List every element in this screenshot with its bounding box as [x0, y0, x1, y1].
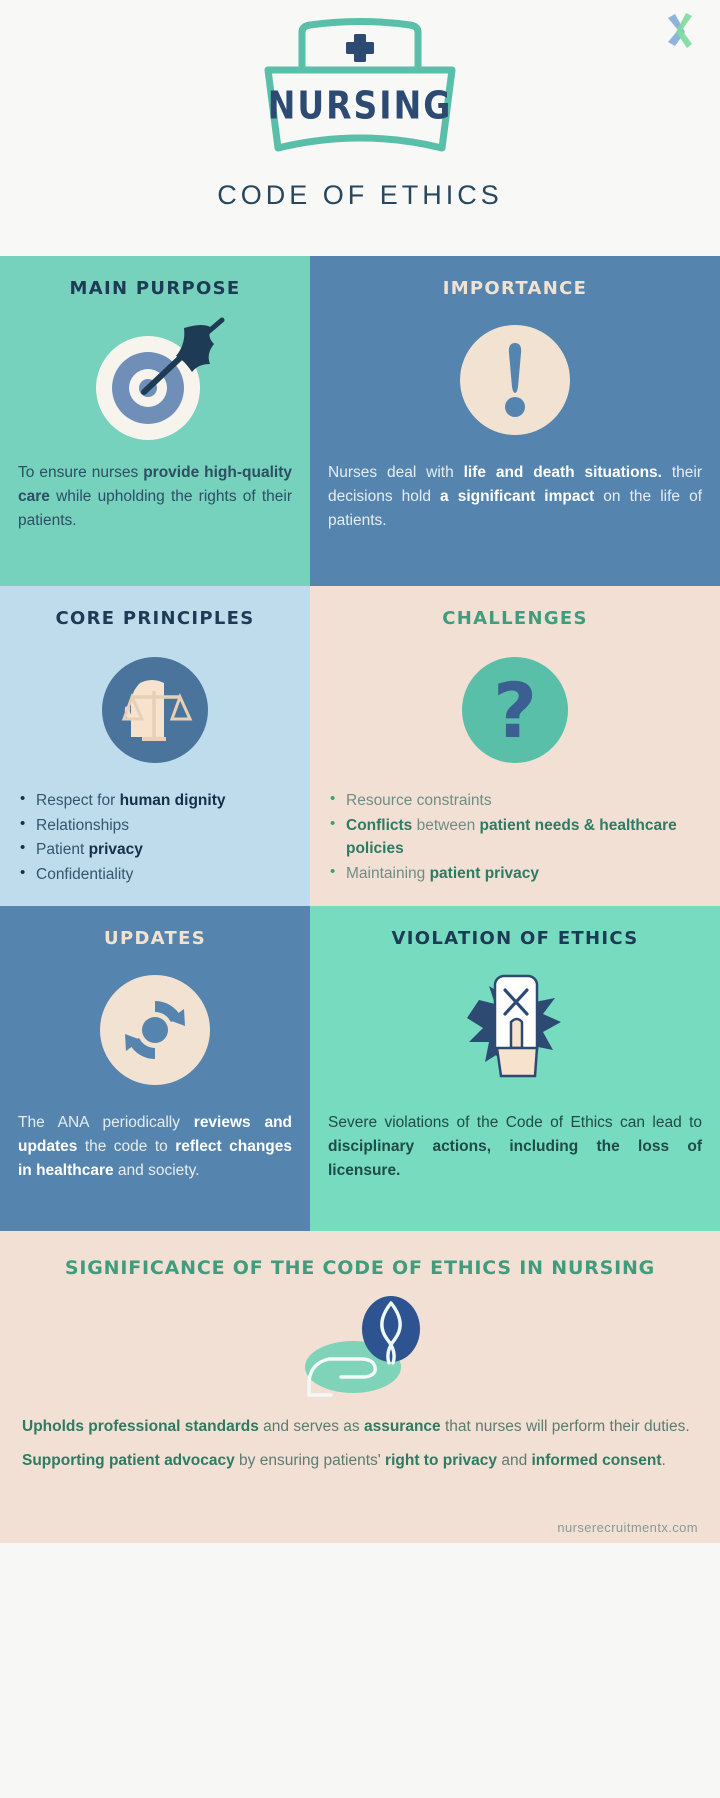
panel-updates: UPDATES The ANA periodically reviews and…: [0, 906, 310, 1231]
svg-text:?: ?: [493, 666, 537, 755]
hand-holding-ribbon-icon: [22, 1287, 698, 1405]
list-item: Respect for human dignity: [18, 789, 292, 813]
question-mark-circle-icon: ?: [328, 635, 702, 785]
nurse-cap-badge: NURSING: [230, 12, 490, 162]
panel-title-main-purpose: MAIN PURPOSE: [18, 278, 292, 299]
target-dart-icon: [18, 305, 292, 455]
significance-paragraph-1: Upholds professional standards and serve…: [22, 1415, 698, 1439]
panel-main-purpose: MAIN PURPOSE To ensure nurses provide hi…: [0, 256, 310, 586]
list-item: Relationships: [18, 814, 292, 838]
refresh-cycle-icon: [18, 955, 292, 1105]
list-item: Maintaining patient privacy: [328, 862, 702, 886]
panel-title-core-principles: CORE PRINCIPLES: [18, 608, 292, 629]
panel-title-violation: VIOLATION OF ETHICS: [328, 928, 702, 949]
panel-violation-of-ethics: VIOLATION OF ETHICS Severe violations of…: [310, 906, 720, 1231]
panel-body-main-purpose: To ensure nurses provide high-quality ca…: [18, 461, 292, 533]
list-item: Conflicts between patient needs & health…: [328, 814, 702, 861]
panels-grid: MAIN PURPOSE To ensure nurses provide hi…: [0, 256, 720, 1231]
exclamation-circle-icon: [328, 305, 702, 455]
panel-core-principles: CORE PRINCIPLES Respect for human dignit…: [0, 586, 310, 906]
panel-body-violation: Severe violations of the Code of Ethics …: [328, 1111, 702, 1183]
significance-section: SIGNIFICANCE OF THE CODE OF ETHICS IN NU…: [0, 1231, 720, 1543]
panel-challenges: CHALLENGES ? Resource constraints Confli…: [310, 586, 720, 906]
list-item: Patient privacy: [18, 838, 292, 862]
medical-cross-icon: [346, 34, 374, 62]
hand-pressing-x-card-icon: [328, 955, 702, 1105]
infographic-header: NURSING CODE OF ETHICS: [0, 0, 720, 256]
nurserecruitmentx-logo: [658, 10, 702, 54]
core-principles-list: Respect for human dignity Relationships …: [18, 789, 292, 887]
panel-importance: IMPORTANCE Nurses deal with life and dea…: [310, 256, 720, 586]
list-item: Confidentiality: [18, 863, 292, 887]
panel-title-importance: IMPORTANCE: [328, 278, 702, 299]
significance-title: SIGNIFICANCE OF THE CODE OF ETHICS IN NU…: [22, 1257, 698, 1279]
footer-url: nurserecruitmentx.com: [557, 1520, 698, 1535]
challenges-list: Resource constraints Conflicts between p…: [328, 789, 702, 886]
panel-title-updates: UPDATES: [18, 928, 292, 949]
page-subtitle: CODE OF ETHICS: [217, 180, 503, 211]
panel-body-updates: The ANA periodically reviews and updates…: [18, 1111, 292, 1183]
significance-paragraph-2: Supporting patient advocacy by ensuring …: [22, 1449, 698, 1473]
panel-body-importance: Nurses deal with life and death situatio…: [328, 461, 702, 533]
head-scales-justice-icon: [18, 635, 292, 785]
badge-word: NURSING: [230, 83, 490, 128]
panel-title-challenges: CHALLENGES: [328, 608, 702, 629]
list-item: Resource constraints: [328, 789, 702, 813]
